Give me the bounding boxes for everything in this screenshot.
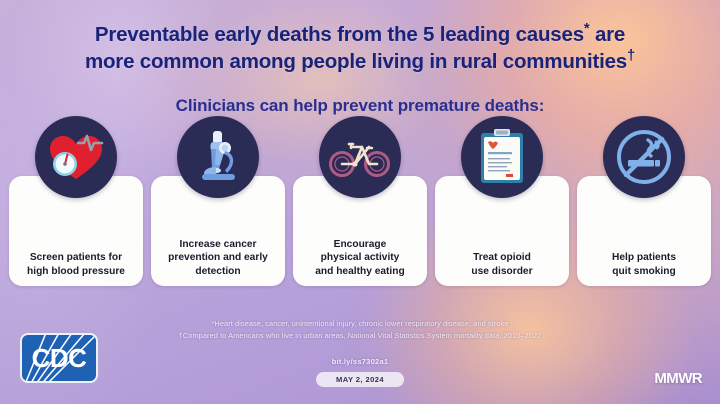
- card-cancer-prevention[interactable]: Increase cancer prevention and early det…: [151, 176, 285, 286]
- mmwr-logo: MMWR: [654, 370, 702, 387]
- recommendation-card-list: Screen patients for high blood pressure: [9, 176, 711, 286]
- card-label: Increase cancer prevention and early det…: [163, 238, 273, 278]
- clipboard-prescription-icon: [461, 116, 543, 198]
- card-quit-smoking[interactable]: Help patients quit smoking: [577, 176, 711, 286]
- footnote-dagger: †Compared to Americans who live in urban…: [0, 330, 720, 342]
- card-label: Encourage physical activity and healthy …: [310, 238, 409, 278]
- short-url-link[interactable]: bit.ly/ss7302a1: [0, 357, 720, 366]
- card-label: Screen patients for high blood pressure: [22, 251, 130, 278]
- headline-line-1: Preventable early deaths from the 5 lead…: [0, 20, 720, 47]
- footnotes: *Heart disease, cancer, unintentional in…: [0, 318, 720, 342]
- card-physical-activity[interactable]: Encourage physical activity and healthy …: [293, 176, 427, 286]
- bicycle-icon: [319, 116, 401, 198]
- footnote-asterisk: *Heart disease, cancer, unintentional in…: [0, 318, 720, 330]
- headline-line-2-text: more common among people living in rural…: [85, 50, 627, 73]
- headline-line-1-text: Preventable early deaths from the 5 lead…: [95, 23, 584, 46]
- card-label: Treat opioid use disorder: [466, 251, 537, 278]
- heart-blood-pressure-icon: [35, 116, 117, 198]
- headline-line-1-tail: are: [589, 23, 625, 46]
- infographic-poster: Preventable early deaths from the 5 lead…: [0, 0, 720, 404]
- headline-line-2: more common among people living in rural…: [0, 47, 720, 74]
- no-smoking-icon: [603, 116, 685, 198]
- page-title: Preventable early deaths from the 5 lead…: [0, 20, 720, 74]
- subtitle: Clinicians can help prevent premature de…: [0, 96, 720, 116]
- microscope-icon: [177, 116, 259, 198]
- card-label: Help patients quit smoking: [607, 251, 681, 278]
- publication-date-badge: MAY 2, 2024: [316, 372, 404, 387]
- headline-dagger: †: [627, 48, 635, 64]
- card-opioid-treatment[interactable]: Treat opioid use disorder: [435, 176, 569, 286]
- card-screen-blood-pressure[interactable]: Screen patients for high blood pressure: [9, 176, 143, 286]
